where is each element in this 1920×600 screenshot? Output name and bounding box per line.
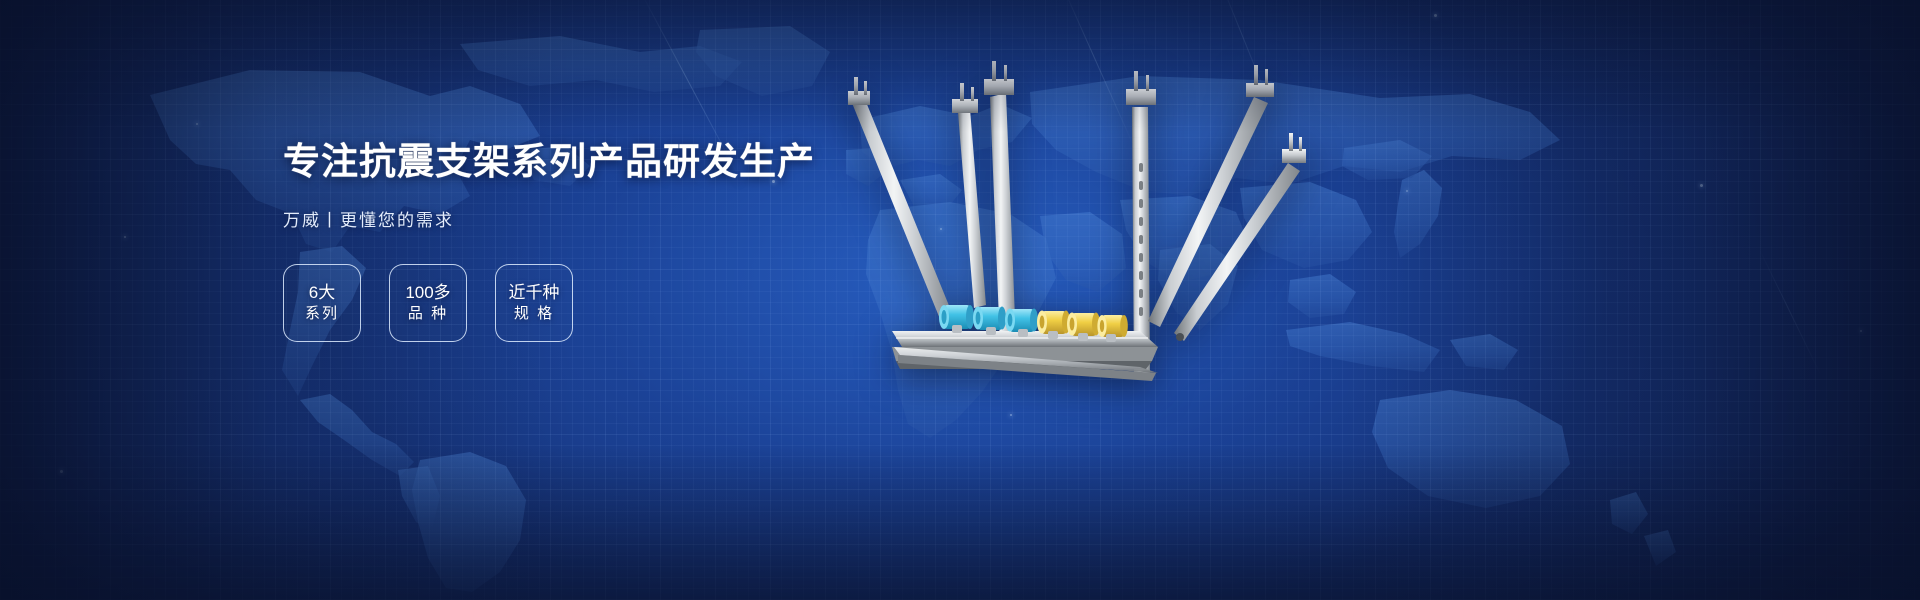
badge-specifications: 近千种 规 格 (495, 264, 573, 342)
badge-varieties-line2: 品 种 (408, 304, 448, 323)
badge-series-line1: 6大 (309, 282, 335, 304)
badge-series-line2: 系列 (305, 304, 339, 323)
banner-copy: 专注抗震支架系列产品研发生产 万威丨更懂您的需求 6大 系列 100多 品 种 … (283, 140, 923, 342)
badge-varieties-line1: 100多 (405, 282, 450, 304)
highlight-badges: 6大 系列 100多 品 种 近千种 规 格 (283, 264, 923, 342)
badge-series: 6大 系列 (283, 264, 361, 342)
badge-varieties: 100多 品 种 (389, 264, 467, 342)
badge-specifications-line2: 规 格 (514, 304, 554, 323)
hero-banner: 专注抗震支架系列产品研发生产 万威丨更懂您的需求 6大 系列 100多 品 种 … (0, 0, 1920, 600)
banner-subtitle: 万威丨更懂您的需求 (283, 206, 923, 231)
badge-specifications-line1: 近千种 (509, 282, 560, 304)
page-title: 专注抗震支架系列产品研发生产 (283, 140, 923, 184)
